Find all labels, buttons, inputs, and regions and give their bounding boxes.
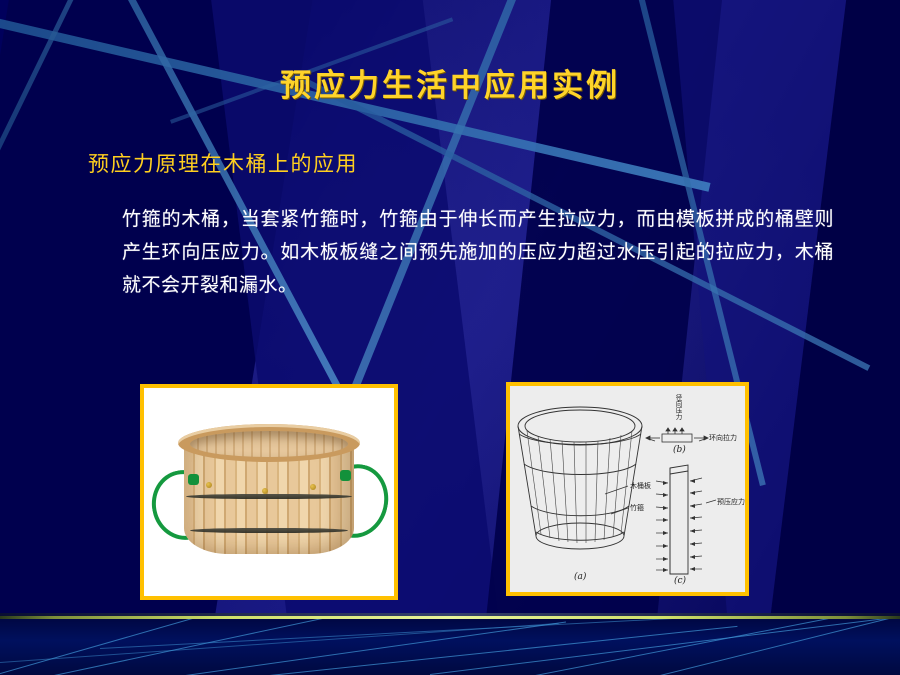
bucket-interior — [190, 431, 348, 457]
diagram-svg — [510, 386, 745, 592]
diagram-caption-b: (b) — [673, 445, 686, 455]
page-title: 预应力生活中应用实例 — [0, 60, 900, 105]
footer-divider — [0, 616, 900, 619]
footer-streak-9 — [0, 623, 559, 663]
bucket-photo-frame — [140, 384, 398, 600]
slide-canvas: 预应力生活中应用实例 预应力原理在木桶上的应用 竹箍的木桶，当套紧竹箍时，竹箍由… — [0, 0, 900, 675]
diagram-caption-c: (c) — [674, 576, 686, 586]
diagram-label-bamboo-hoop: 竹箍 — [630, 503, 644, 513]
diagram-label-pre-compression: 预压应力 — [717, 497, 745, 507]
principle-diagram-frame: 木桶板 竹箍 环向拉力 径向压力 预压应力 (a) (b) (c) — [506, 382, 749, 596]
bucket-photo — [144, 388, 394, 596]
diagram-label-bucket-board: 木桶板 — [630, 481, 651, 491]
bucket-rivet-2 — [262, 488, 268, 494]
bucket-rivet-1 — [206, 482, 212, 488]
principle-diagram: 木桶板 竹箍 环向拉力 径向压力 预压应力 (a) (b) (c) — [510, 386, 745, 592]
metal-hoop-upper — [186, 494, 352, 499]
footer-streak-3 — [150, 622, 566, 675]
diagram-label-radial-pressure: 径向压力 — [673, 394, 683, 420]
diagram-caption-a: (a) — [574, 572, 586, 582]
diagram-label-hoop-tension: 环向拉力 — [709, 433, 737, 443]
slide-footer — [0, 618, 900, 675]
wooden-bucket-illustration — [170, 424, 368, 558]
bucket-rivet-3 — [310, 484, 316, 490]
metal-hoop-lower — [190, 528, 348, 533]
footer-streak-6 — [520, 618, 900, 675]
rope-knot-right — [340, 470, 351, 481]
rope-knot-left — [188, 474, 199, 485]
body-paragraph: 竹箍的木桶，当套紧竹箍时，竹箍由于伸长而产生拉应力，而由模板拼成的桶壁则产生环向… — [122, 203, 834, 302]
section-subtitle: 预应力原理在木桶上的应用 — [88, 148, 358, 178]
